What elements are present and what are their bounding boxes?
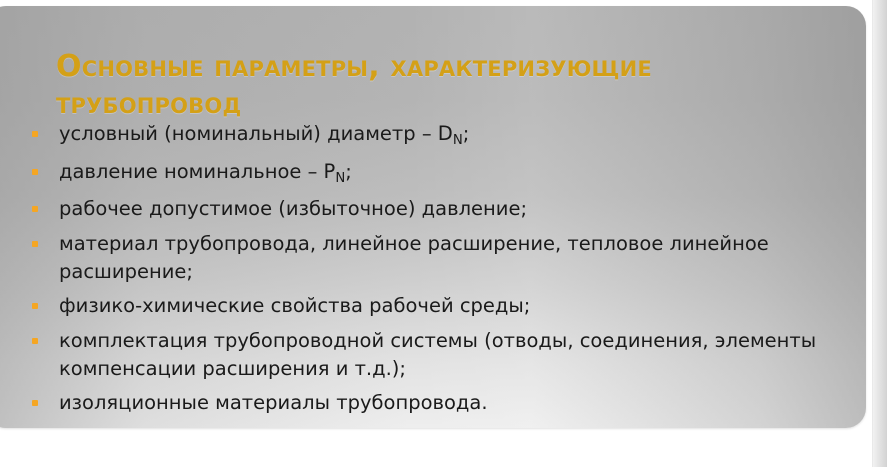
list-item-label: материал трубопровода, линейное расширен… — [59, 230, 828, 286]
bullet-marker-icon — [32, 206, 38, 212]
list-item: рабочее допустимое (избыточное) давление… — [28, 195, 828, 223]
list-item: изоляционные материалы трубопровода. — [28, 389, 828, 417]
list-item: условный (номинальный) диаметр – DN; — [28, 120, 828, 151]
list-item: физико-химические свойства рабочей среды… — [28, 292, 828, 320]
list-item-label: давление номинальное – PN; — [59, 158, 828, 189]
vertical-scrollbar[interactable] — [872, 0, 887, 467]
presentation-slide: Основные параметры, характеризующие труб… — [0, 6, 866, 428]
bullet-list: условный (номинальный) диаметр – DN;давл… — [28, 120, 828, 424]
slide-viewer: Основные параметры, характеризующие труб… — [0, 0, 887, 467]
bullet-marker-icon — [32, 241, 38, 247]
list-item-label: рабочее допустимое (избыточное) давление… — [59, 195, 828, 223]
slide-title: Основные параметры, характеризующие труб… — [56, 48, 836, 122]
list-item-label: физико-химические свойства рабочей среды… — [59, 292, 828, 320]
list-item-label: комплектация трубопроводной системы (отв… — [59, 327, 828, 383]
list-item-label: изоляционные материалы трубопровода. — [59, 389, 828, 417]
bullet-marker-icon — [32, 303, 38, 309]
list-item: давление номинальное – PN; — [28, 158, 828, 189]
list-item: материал трубопровода, линейное расширен… — [28, 230, 828, 286]
bullet-marker-icon — [32, 338, 38, 344]
subscript: N — [453, 133, 463, 148]
list-item-label: условный (номинальный) диаметр – DN; — [59, 120, 828, 151]
bullet-marker-icon — [32, 169, 38, 175]
list-item: комплектация трубопроводной системы (отв… — [28, 327, 828, 383]
bullet-marker-icon — [32, 400, 38, 406]
bullet-marker-icon — [32, 131, 38, 137]
subscript: N — [335, 171, 345, 186]
